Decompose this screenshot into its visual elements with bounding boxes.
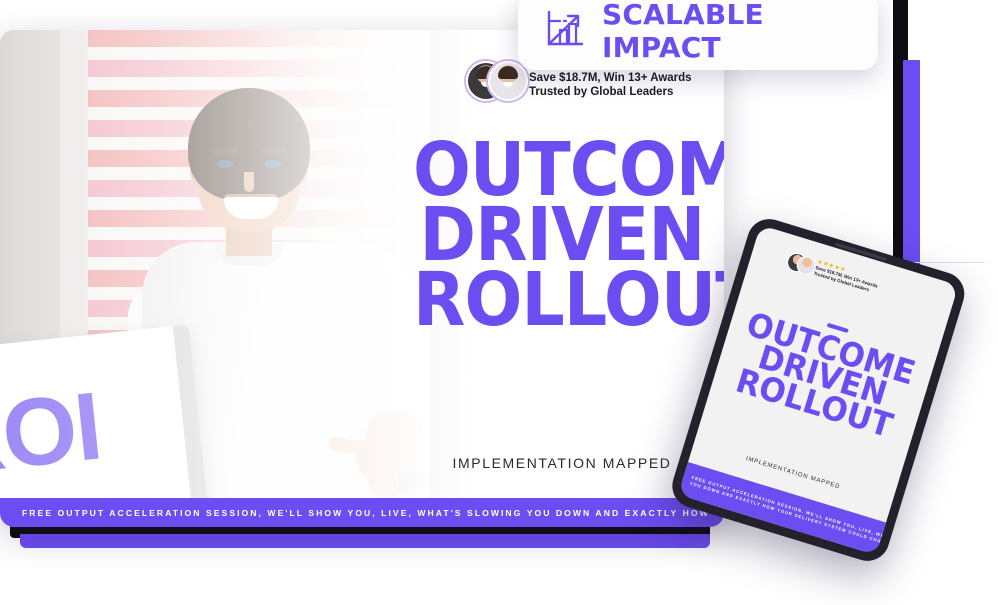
hero-ticker-bar: FREE OUTPUT ACCELERATION SESSION, WE'LL …	[0, 498, 724, 527]
avatar	[488, 61, 528, 101]
tablet-testimonial-text: ★★★★★ Save $18.7M, Win 13+ Awards Truste…	[813, 259, 880, 295]
promo-composition: ROI OUTCOME DRIVEN ROLLOUT IMPLEMENTATIO…	[0, 0, 998, 605]
scalable-impact-label: SCALABLE IMPACT	[602, 0, 878, 64]
avatar-group	[466, 61, 522, 97]
hero-card-purple-edge	[20, 534, 710, 548]
headline-line-3: ROLLOUT	[413, 268, 711, 333]
hero-headline: OUTCOME DRIVEN ROLLOUT	[413, 138, 711, 333]
scalable-impact-badge[interactable]: SCALABLE IMPACT	[518, 0, 878, 70]
tablet-avatar-group	[785, 251, 815, 275]
testimonial-line-1: Save $18.7M, Win 13+ Awards	[529, 71, 692, 85]
presenter-photo: ROI	[0, 30, 430, 500]
tablet-headline: OUTCOME DRIVEN ROLLOUT	[717, 307, 928, 445]
hero-text-panel: OUTCOME DRIVEN ROLLOUT	[400, 30, 724, 500]
hero-ticker-text: FREE OUTPUT ACCELERATION SESSION, WE'LL …	[0, 508, 724, 518]
hero-card: ROI OUTCOME DRIVEN ROLLOUT IMPLEMENTATIO…	[0, 30, 724, 527]
growth-chart-icon	[544, 8, 586, 55]
tablet-ticker-bar: FREE OUTPUT ACCELERATION SESSION, WE'LL …	[678, 462, 886, 555]
tablet-ticker-line-1: FREE OUTPUT ACCELERATION SESSION, WE'LL …	[691, 475, 875, 537]
testimonial-line-2: Trusted by Global Leaders	[529, 85, 692, 99]
tablet-testimonial: ★★★★★ Save $18.7M, Win 13+ Awards Truste…	[785, 251, 880, 295]
decorative-purple-bar	[903, 60, 920, 275]
photo-white-fade	[0, 30, 430, 500]
